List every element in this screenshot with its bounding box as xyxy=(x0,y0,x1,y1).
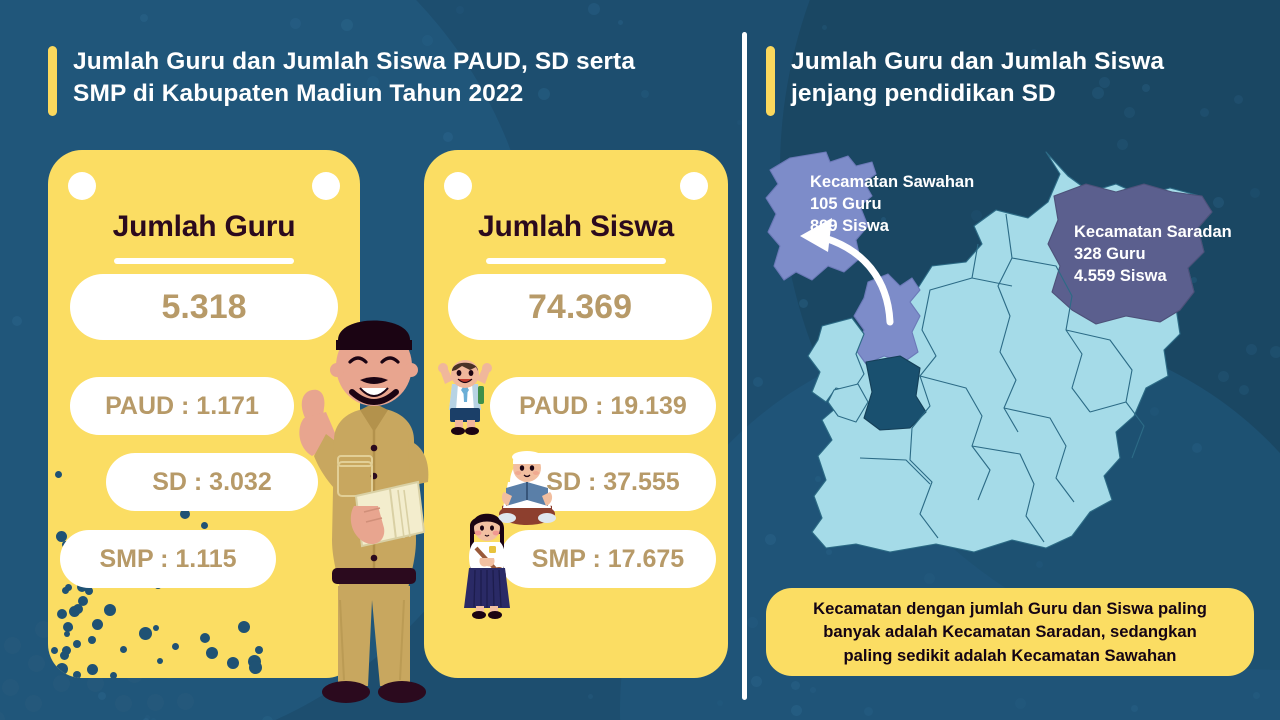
infographic-canvas: Jumlah Guru dan Jumlah Siswa PAUD, SD se… xyxy=(0,0,1280,720)
guru-sd-value: SD : 3.032 xyxy=(152,468,272,497)
guru-total-value: 5.318 xyxy=(161,288,246,327)
left-header-text: Jumlah Guru dan Jumlah Siswa PAUD, SD se… xyxy=(73,46,635,110)
guru-paud-value: PAUD : 1.171 xyxy=(105,392,259,421)
header-accent-bar-right xyxy=(766,46,775,116)
left-panel-header: Jumlah Guru dan Jumlah Siswa PAUD, SD se… xyxy=(48,46,635,116)
map-label-sawahan: Kecamatan Sawahan 105 Guru 899 Siswa xyxy=(810,172,974,237)
map-region-dark xyxy=(864,356,926,430)
right-header-text: Jumlah Guru dan Jumlah Siswa jenjang pen… xyxy=(791,46,1164,110)
card-corner-dot-left xyxy=(68,172,96,200)
guru-smp-pill: SMP : 1.115 xyxy=(60,530,276,588)
guru-paud-pill: PAUD : 1.171 xyxy=(70,377,294,435)
student-boy-illustration xyxy=(432,358,498,436)
guru-smp-value: SMP : 1.115 xyxy=(99,545,236,574)
card-corner-dot-right xyxy=(680,172,708,200)
siswa-total-pill: 74.369 xyxy=(448,274,712,340)
card-title-siswa: Jumlah Siswa xyxy=(424,210,728,244)
panel-divider xyxy=(742,32,747,700)
summary-note: Kecamatan dengan jumlah Guru dan Siswa p… xyxy=(766,588,1254,676)
siswa-paud-pill: PAUD : 19.139 xyxy=(490,377,716,435)
card-title-guru: Jumlah Guru xyxy=(48,210,360,244)
siswa-paud-value: PAUD : 19.139 xyxy=(519,392,687,421)
student-girl-illustration xyxy=(456,508,518,620)
map-label-saradan: Kecamatan Saradan 328 Guru 4.559 Siswa xyxy=(1074,222,1232,287)
card-title-underline xyxy=(114,258,294,264)
header-accent-bar-left xyxy=(48,46,57,116)
card-corner-dot-right xyxy=(312,172,340,200)
card-title-underline xyxy=(486,258,666,264)
card-corner-dot-left xyxy=(444,172,472,200)
siswa-smp-value: SMP : 17.675 xyxy=(532,545,684,574)
siswa-smp-pill: SMP : 17.675 xyxy=(500,530,716,588)
siswa-sd-value: SD : 37.555 xyxy=(546,468,679,497)
siswa-total-value: 74.369 xyxy=(528,288,632,327)
right-panel-header: Jumlah Guru dan Jumlah Siswa jenjang pen… xyxy=(766,46,1164,116)
